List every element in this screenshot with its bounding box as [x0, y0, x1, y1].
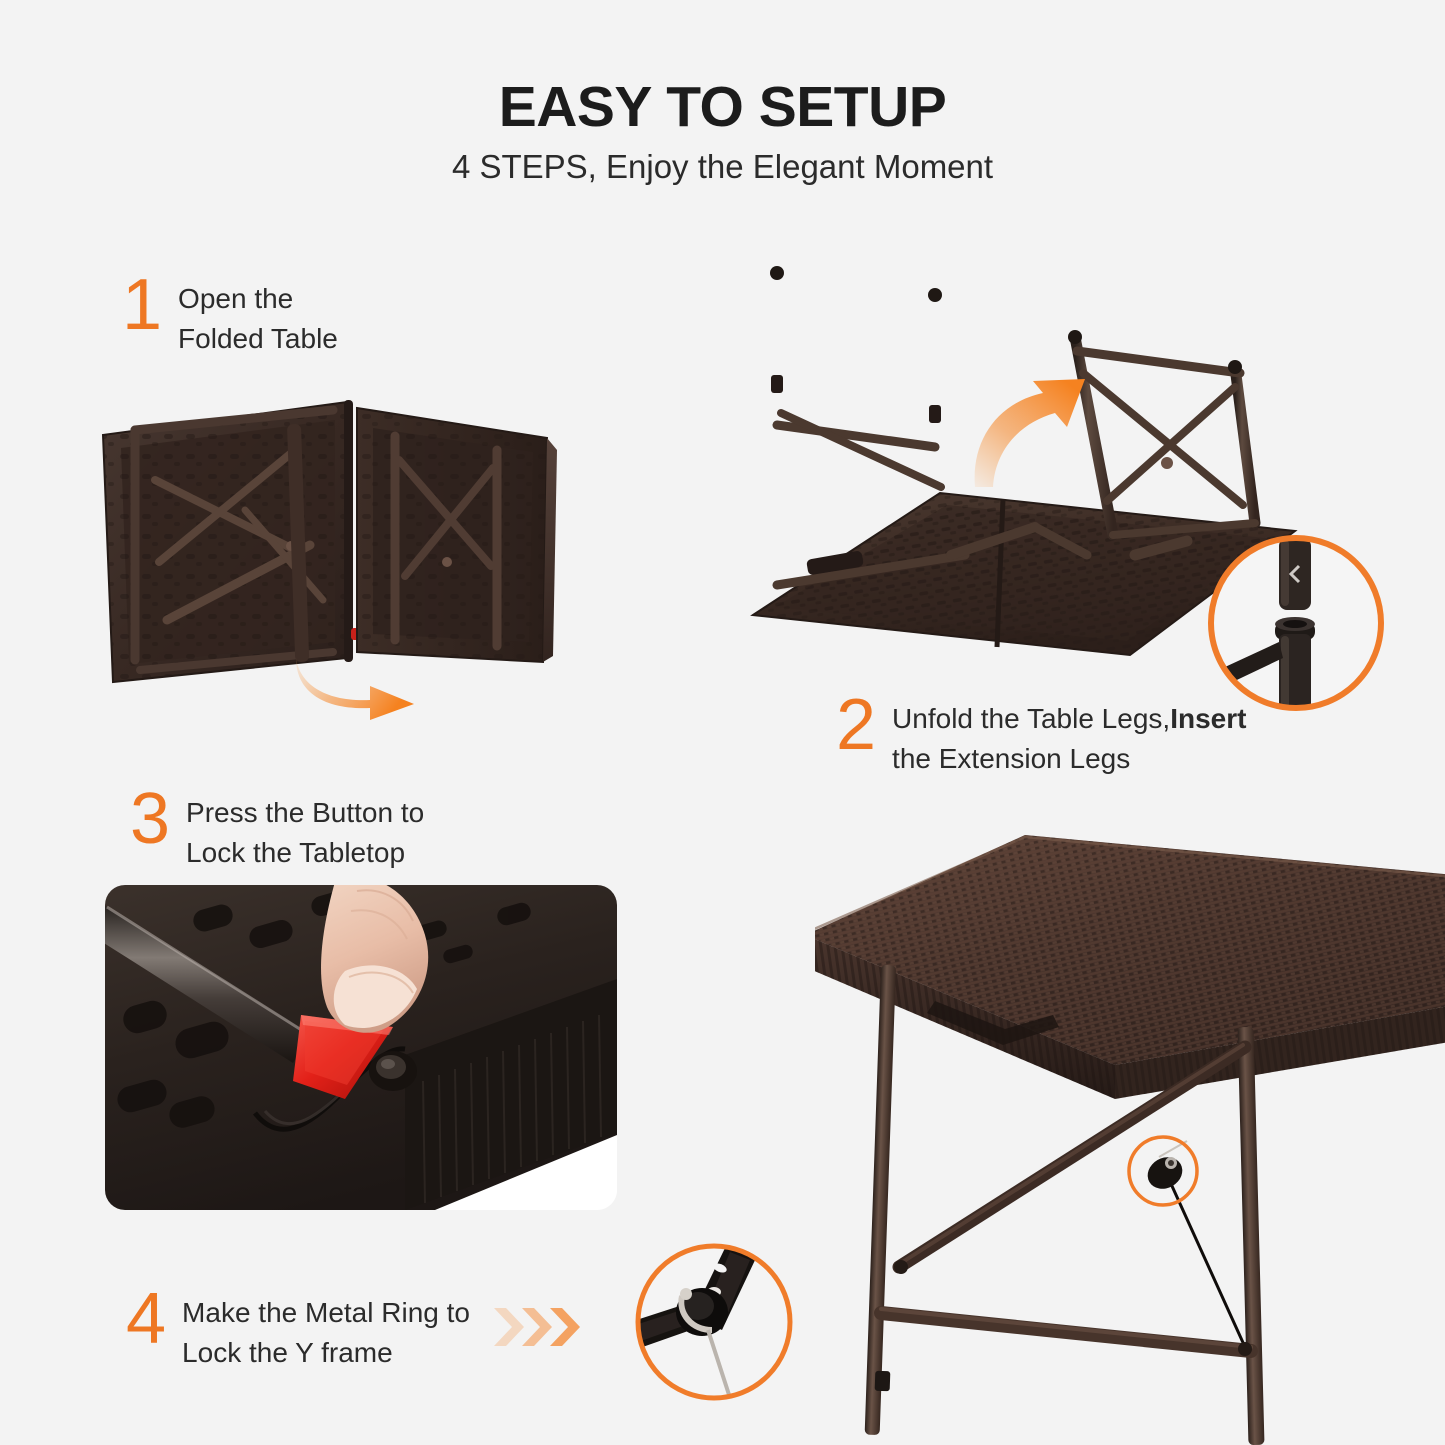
step-4-number: 4	[126, 1286, 166, 1352]
metal-ring-joint	[1142, 1141, 1188, 1195]
page-title: EASY TO SETUP	[0, 74, 1445, 140]
step-2-line2: the Extension Legs	[892, 743, 1130, 774]
step-2-caption: 2 Unfold the Table Legs,Insertthe Extens…	[836, 692, 1246, 779]
step-2-line1-bold: Insert	[1170, 703, 1246, 734]
step-2-line1: Unfold the Table Legs,	[892, 703, 1170, 734]
page-subtitle: 4 STEPS, Enjoy the Elegant Moment	[0, 148, 1445, 186]
step-4-text: Make the Metal Ring to Lock the Y frame	[182, 1286, 470, 1373]
step-1-caption: 1 Open the Folded Table	[122, 272, 338, 359]
step-2-callout	[1203, 530, 1389, 716]
step-4-callout	[630, 1238, 798, 1406]
step-3-text: Press the Button to Lock the Tabletop	[186, 786, 424, 873]
chevron-right-icon	[494, 1308, 524, 1346]
pivot-knob	[369, 1051, 417, 1091]
chevron-right-icon	[522, 1308, 552, 1346]
step-1-photo	[95, 390, 565, 720]
chevron-arrows	[492, 1304, 592, 1350]
step-3-caption: 3 Press the Button to Lock the Tabletop	[130, 786, 424, 873]
left-leg-assembly	[770, 266, 965, 585]
step-4-photo	[815, 815, 1445, 1445]
tabletop	[815, 835, 1445, 1099]
folded-table-left-panel	[103, 402, 347, 682]
step-2-text: Unfold the Table Legs,Insertthe Extensio…	[892, 692, 1246, 779]
infographic-canvas: EASY TO SETUP 4 STEPS, Enjoy the Elegant…	[0, 0, 1445, 1445]
chevron-right-icon	[550, 1308, 580, 1346]
step-3-number: 3	[130, 786, 170, 852]
step-1-text: Open the Folded Table	[178, 272, 338, 359]
step-1-curved-arrow-icon	[290, 652, 430, 720]
step-1-number: 1	[122, 272, 162, 338]
step-3-photo	[105, 885, 617, 1210]
folded-table-right-panel	[357, 408, 557, 662]
step-2-number: 2	[836, 692, 876, 758]
step-2-curved-arrow-icon	[967, 371, 1097, 491]
step-4-caption: 4 Make the Metal Ring to Lock the Y fram…	[126, 1286, 470, 1373]
